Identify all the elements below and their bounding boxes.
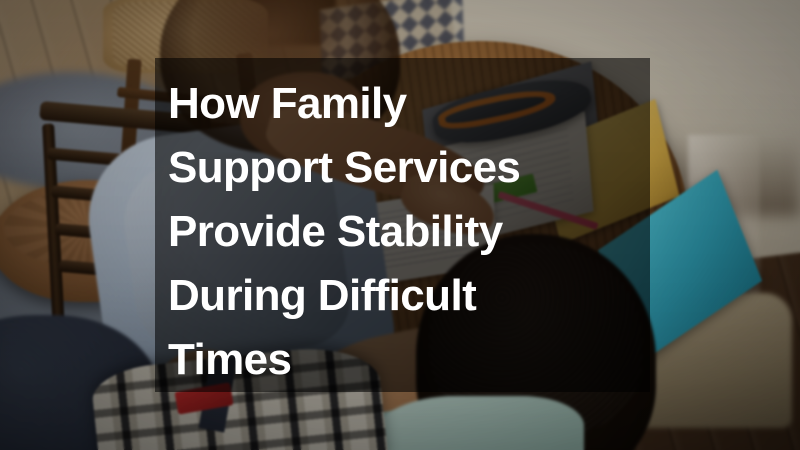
page-title: How Family Support Services Provide Stab… — [168, 72, 638, 392]
article-hero-banner: How Family Support Services Provide Stab… — [0, 0, 800, 450]
title-line-5: Times — [168, 328, 638, 392]
boy-mint-shirt — [376, 396, 584, 450]
title-line-4: During Difficult — [168, 264, 638, 328]
title-line-1: How Family — [168, 72, 638, 136]
title-line-2: Support Services — [168, 136, 638, 200]
title-line-3: Provide Stability — [168, 200, 638, 264]
